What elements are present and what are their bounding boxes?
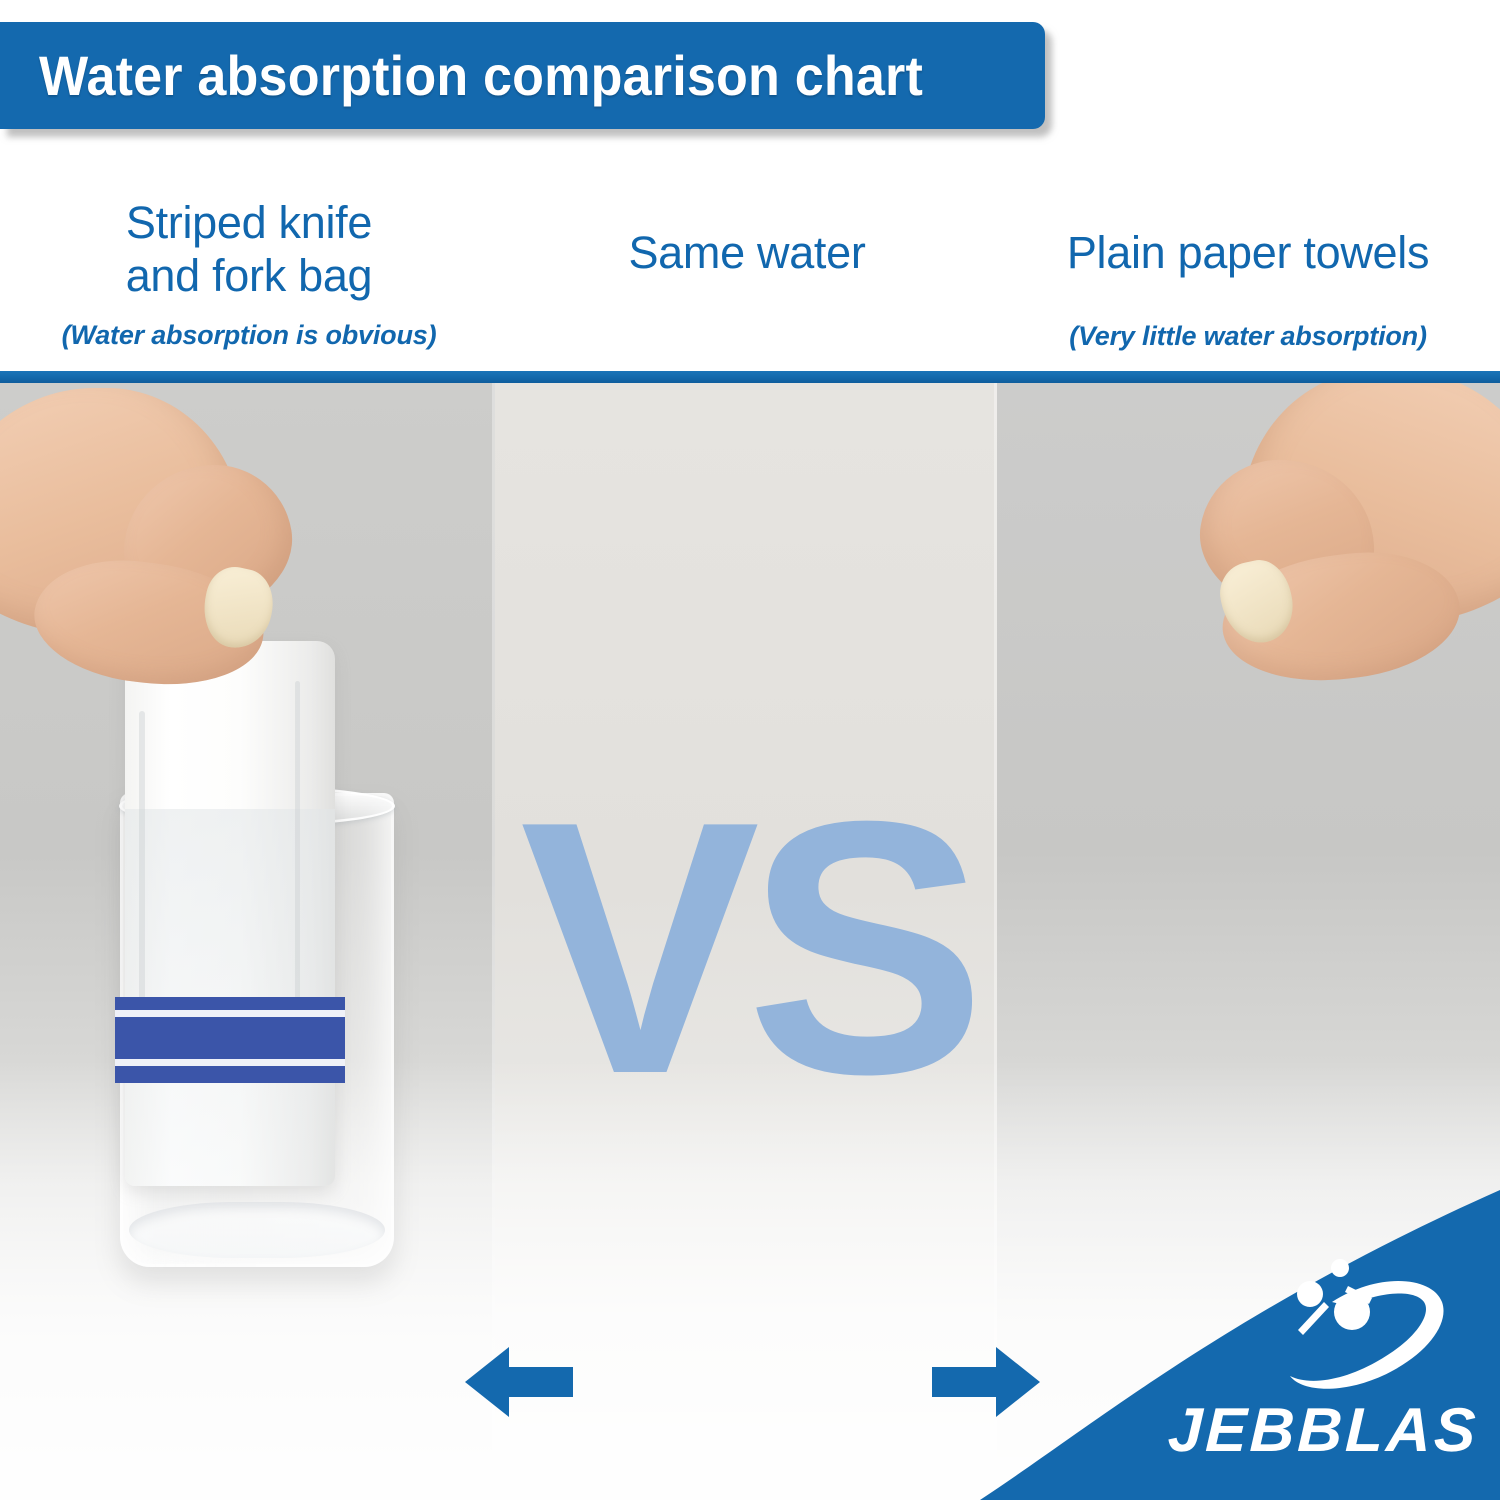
column-headers: Striped knife and fork bag (Water absorp… [0, 150, 1500, 372]
blue-stripe-band [115, 997, 345, 1083]
glass-base-left [129, 1202, 385, 1258]
panel-striped-knife-and-fork-bag [0, 383, 495, 1500]
napkin-fold-b [295, 681, 300, 1041]
header-title-left: Striped knife and fork bag [0, 150, 498, 302]
hand-right [1166, 383, 1500, 699]
vs-watermark: VS [495, 783, 997, 1113]
header-title-left-line2: and fork bag [0, 249, 498, 302]
hand-left [0, 388, 312, 688]
header-title-right: Plain paper towels [996, 150, 1500, 279]
napkin-fold-a [139, 711, 145, 1011]
stripe-white-line-top [115, 1010, 345, 1017]
brand-name: JEBBLAS [1166, 1395, 1479, 1466]
section-divider [0, 371, 1500, 383]
header-subtitle-right: (Very little water absorption) [996, 279, 1500, 352]
header-column-right: Plain paper towels (Very little water ab… [996, 150, 1500, 372]
header-title-middle: Same water [498, 150, 996, 279]
header-column-left: Striped knife and fork bag (Water absorp… [0, 150, 498, 372]
striped-napkin-roll [125, 641, 335, 1186]
page-title: Water absorption comparison chart [0, 43, 923, 108]
stripe-white-line-bottom [115, 1059, 345, 1066]
arrow-left-icon [465, 1343, 573, 1421]
header-title-left-line1: Striped knife [0, 196, 498, 249]
title-banner: Water absorption comparison chart [0, 22, 1045, 129]
infographic-root: Water absorption comparison chart Stripe… [0, 0, 1500, 1500]
brand-logo: JEBBLAS [980, 1190, 1500, 1500]
header-column-middle: Same water [498, 150, 996, 372]
header-subtitle-left: (Water absorption is obvious) [0, 302, 498, 351]
